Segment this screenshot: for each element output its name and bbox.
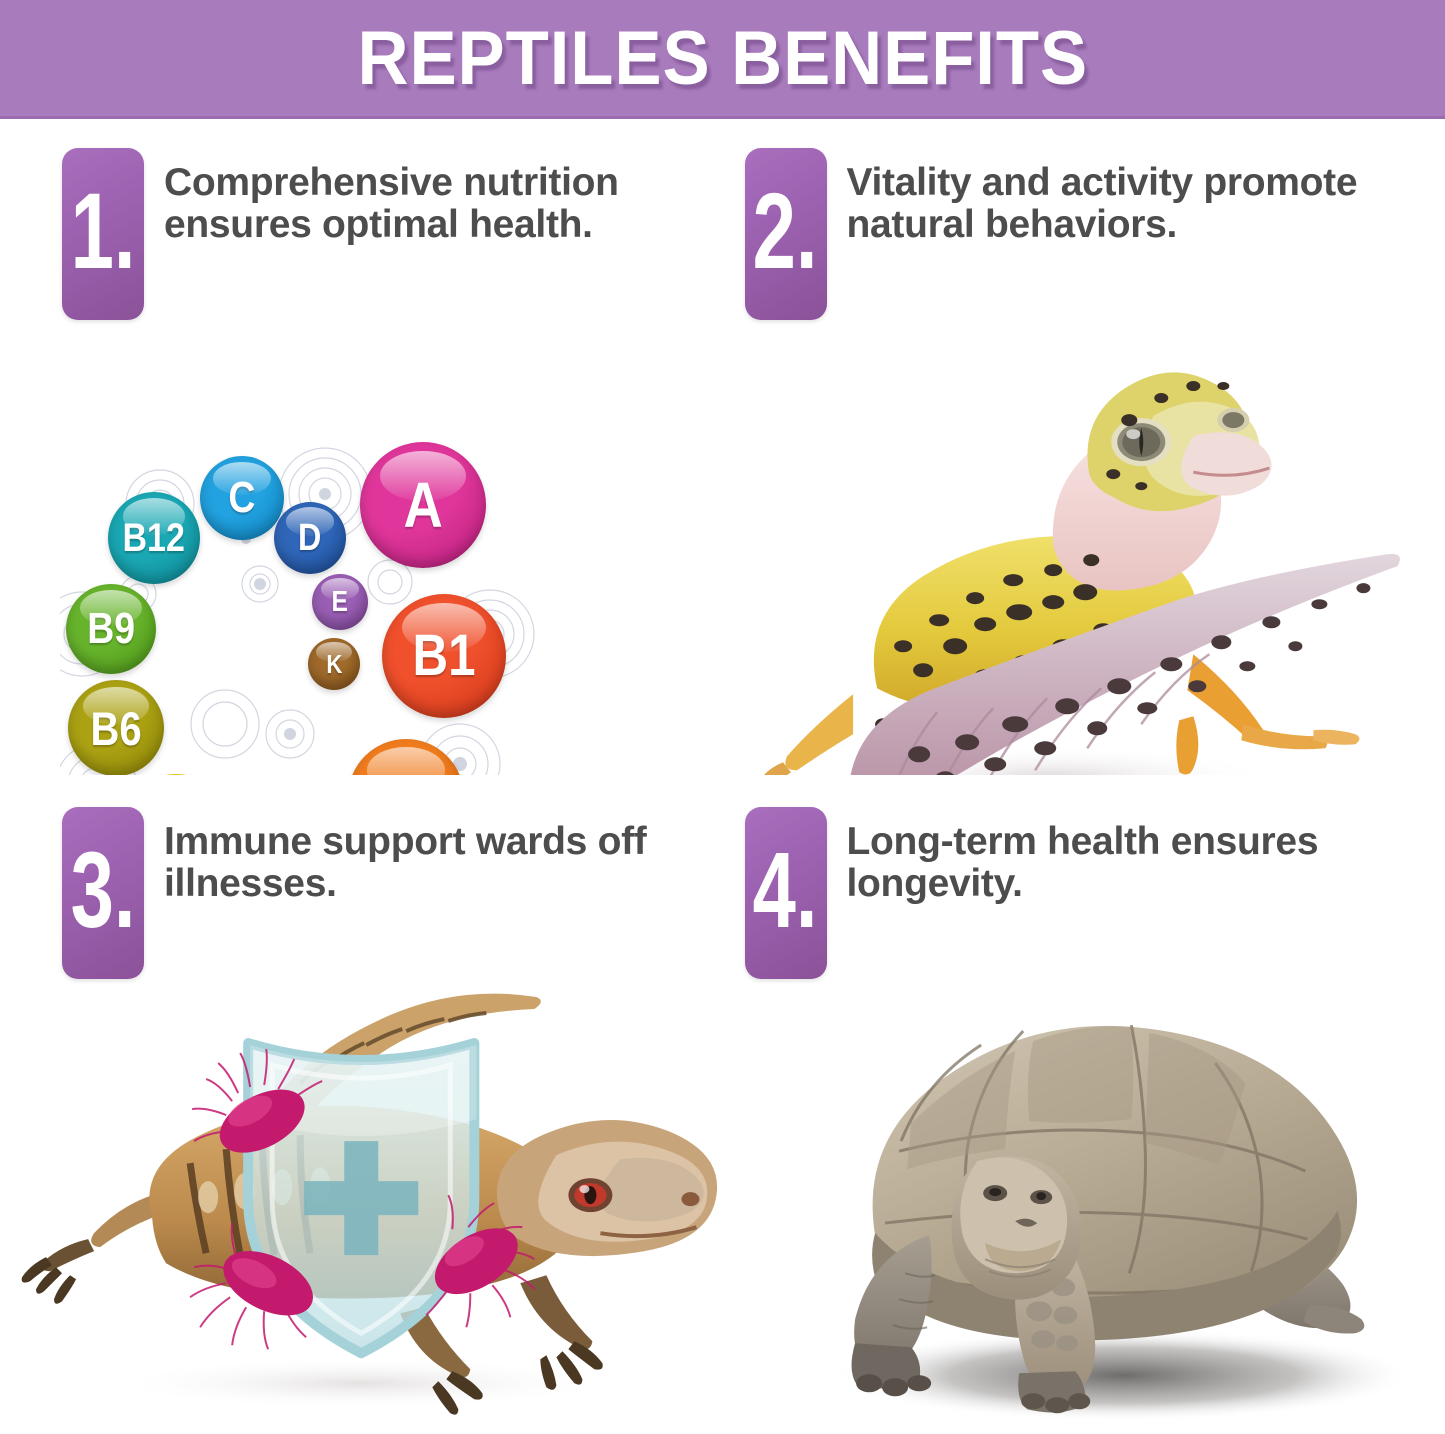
vitamin-bubble-label: B9 bbox=[87, 607, 135, 651]
benefit-number-badge-2: 2. bbox=[745, 148, 827, 320]
vitamin-bubble-b1: B1 bbox=[382, 594, 506, 718]
benefit-text-3: Immune support wards off illnesses. bbox=[164, 807, 703, 905]
vitamin-bubble-label: B6 bbox=[90, 705, 141, 752]
skink-with-immunity-shield-photo bbox=[0, 983, 723, 1434]
vitamin-bubble-b6: B6 bbox=[68, 680, 164, 775]
benefit-number-badge-4: 4. bbox=[745, 807, 827, 979]
shield-lizard-illustration-icon bbox=[0, 983, 722, 1423]
page-header-banner: REPTILES BENEFITS bbox=[0, 0, 1445, 119]
benefit-number-badge-1: 1. bbox=[62, 148, 144, 320]
benefits-grid: 1. Comprehensive nutrition ensures optim… bbox=[0, 116, 1445, 1434]
benefit-heading-1: 1. Comprehensive nutrition ensures optim… bbox=[0, 116, 723, 320]
benefit-panel-3: 3. Immune support wards off illnesses. bbox=[0, 775, 723, 1434]
benefit-number-2: 2. bbox=[753, 177, 818, 291]
gecko-illustration-icon bbox=[723, 324, 1445, 775]
benefit-number-1: 1. bbox=[71, 177, 136, 291]
benefit-text-1: Comprehensive nutrition ensures optimal … bbox=[164, 148, 703, 246]
vitamin-bubble-label: K bbox=[326, 651, 342, 677]
vitamin-bubble-k: K bbox=[308, 638, 360, 690]
benefit-heading-4: 4. Long-term health ensures longevity. bbox=[723, 775, 1445, 979]
vitamin-bubble-label: D bbox=[298, 519, 321, 557]
benefit-number-4: 4. bbox=[753, 836, 818, 950]
vitamin-bubble-label: B12 bbox=[123, 518, 185, 558]
vitamin-bubble-b12: B12 bbox=[108, 492, 200, 584]
vitamin-wheel-illustration: AB1B2B3B5B6B9B12CDEK bbox=[0, 324, 723, 775]
vitamin-bubble-b9: B9 bbox=[66, 584, 156, 674]
leopard-gecko-photo bbox=[723, 324, 1445, 775]
benefit-heading-2: 2. Vitality and activity promote natural… bbox=[723, 116, 1445, 320]
benefit-number-3: 3. bbox=[71, 836, 136, 950]
benefit-heading-3: 3. Immune support wards off illnesses. bbox=[0, 775, 723, 979]
vitamin-bubble-label: C bbox=[228, 476, 255, 520]
vitamin-bubble-label: B1 bbox=[412, 627, 475, 685]
vitamin-bubble-label: E bbox=[332, 588, 348, 617]
benefit-text-2: Vitality and activity promote natural be… bbox=[847, 148, 1426, 246]
page-title: REPTILES BENEFITS bbox=[357, 21, 1088, 97]
tortoise-illustration-icon bbox=[723, 983, 1445, 1423]
benefit-panel-1: 1. Comprehensive nutrition ensures optim… bbox=[0, 116, 723, 775]
vitamin-bubble-e: E bbox=[312, 574, 368, 630]
benefit-number-badge-3: 3. bbox=[62, 807, 144, 979]
vitamin-bubble-c: C bbox=[200, 456, 284, 540]
vitamin-bubble-label: A bbox=[403, 473, 442, 537]
benefit-panel-2: 2. Vitality and activity promote natural… bbox=[723, 116, 1445, 775]
vitamin-wheel: AB1B2B3B5B6B9B12CDEK bbox=[60, 434, 560, 775]
benefit-text-4: Long-term health ensures longevity. bbox=[847, 807, 1426, 905]
benefit-panel-4: 4. Long-term health ensures longevity. bbox=[723, 775, 1445, 1434]
vitamin-bubble-a: A bbox=[360, 442, 486, 568]
giant-tortoise-photo bbox=[723, 983, 1445, 1434]
vitamin-bubble-d: D bbox=[274, 502, 346, 574]
